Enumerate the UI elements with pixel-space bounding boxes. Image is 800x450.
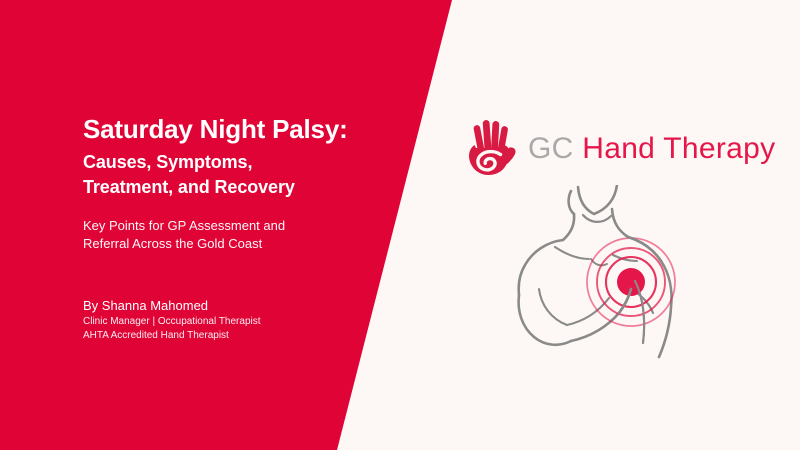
page-subtitle-line-2: Treatment, and Recovery xyxy=(83,175,403,200)
logo-text-gc: GC xyxy=(528,132,574,165)
author-name: By Shanna Mahomed xyxy=(83,297,403,315)
title-text-block: Saturday Night Palsy: Causes, Symptoms, … xyxy=(83,112,403,343)
radiating-pain-rings-icon xyxy=(587,238,675,326)
tagline-line-1: Key Points for GP Assessment and xyxy=(83,218,285,233)
page-subtitle-line-1: Causes, Symptoms, xyxy=(83,152,252,172)
tagline-line-2: Referral Across the Gold Coast xyxy=(83,235,403,253)
logo-wordmark: GC Hand Therapy xyxy=(528,134,775,164)
tagline: Key Points for GP Assessment and Referra… xyxy=(83,217,403,253)
brand-logo: GC Hand Therapy xyxy=(462,118,775,180)
open-hand-with-swirl-icon xyxy=(462,118,518,180)
author-role: Clinic Manager | Occupational Therapist xyxy=(83,315,403,329)
logo-text-name: Hand Therapy xyxy=(582,132,775,165)
page-title: Saturday Night Palsy: xyxy=(83,112,403,146)
page-subtitle: Causes, Symptoms, Treatment, and Recover… xyxy=(83,150,403,200)
shoulder-pain-torso-line-art-icon xyxy=(495,185,695,380)
author-credential: AHTA Accredited Hand Therapist xyxy=(83,329,403,343)
title-slide: Saturday Night Palsy: Causes, Symptoms, … xyxy=(0,0,800,450)
author-block: By Shanna Mahomed Clinic Manager | Occup… xyxy=(83,297,403,343)
